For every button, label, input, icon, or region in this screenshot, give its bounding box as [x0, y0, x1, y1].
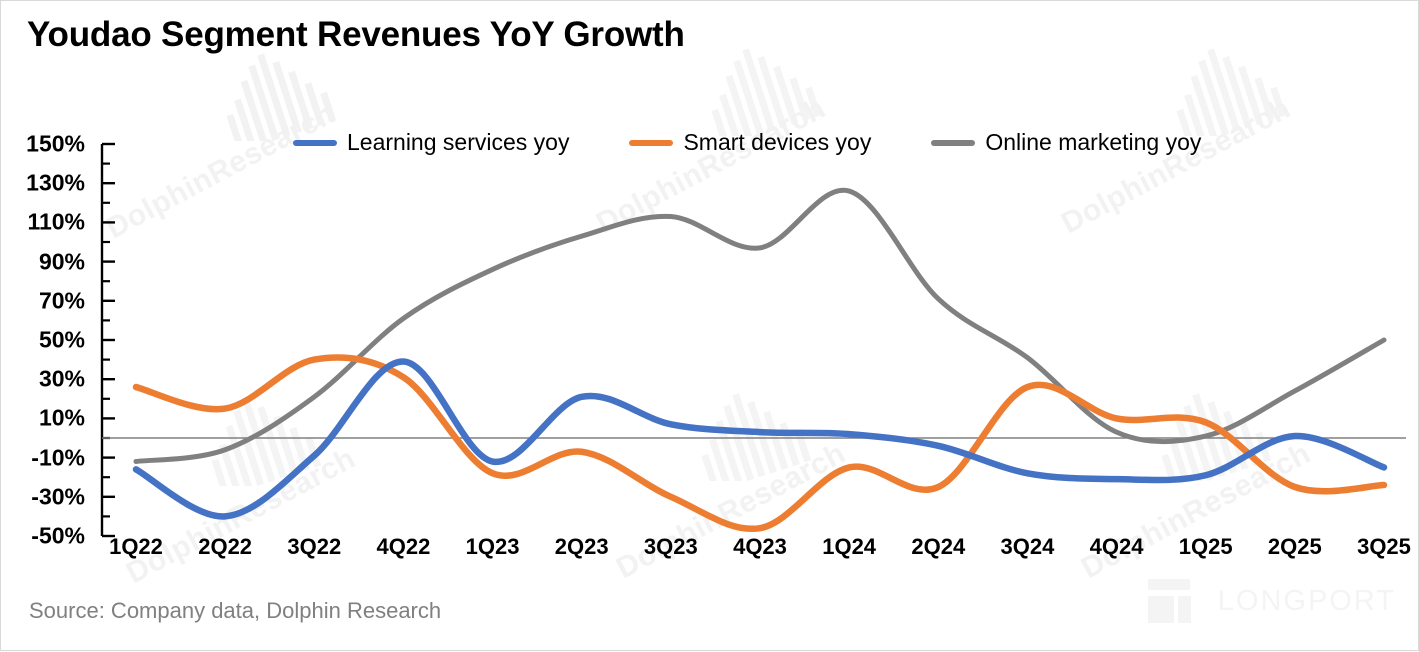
y-axis-tick-label: 130% [5, 170, 85, 197]
x-axis-tick-label: 4Q24 [1090, 534, 1144, 560]
chart-legend: Learning services yoy Smart devices yoy … [293, 129, 1201, 156]
x-axis-tick-label: 2Q25 [1268, 534, 1322, 560]
x-axis-tick-label: 1Q25 [1179, 534, 1233, 560]
watermark-bars [1166, 41, 1296, 136]
chart-figure: DolphinResearch DolphinResearch DolphinR… [0, 0, 1419, 651]
watermark-bars [216, 46, 346, 141]
x-axis-tick-label: 4Q22 [377, 534, 431, 560]
line-swatch-icon [629, 140, 673, 146]
longport-wordmark: LONGPORT [1218, 585, 1396, 618]
x-axis-tick-label: 2Q23 [555, 534, 609, 560]
y-axis-tick-label: 10% [5, 405, 85, 432]
watermark-text: DolphinResearch [121, 442, 361, 591]
watermark-text: DolphinResearch [591, 92, 831, 241]
y-axis-tick-label: 110% [5, 209, 85, 236]
watermark-text: DolphinResearch [1056, 92, 1296, 241]
x-axis-tick-label: 3Q25 [1357, 534, 1411, 560]
watermark-bars [201, 391, 331, 486]
legend-item-smart-devices[interactable]: Smart devices yoy [629, 129, 871, 156]
y-axis [102, 144, 115, 536]
x-axis-labels: 1Q222Q223Q224Q221Q232Q233Q234Q231Q242Q24… [1, 534, 1419, 568]
y-axis-tick-label: -10% [5, 444, 85, 471]
watermark-bars [1151, 386, 1281, 481]
line-swatch-icon [931, 140, 975, 146]
legend-item-online-marketing[interactable]: Online marketing yoy [931, 129, 1201, 156]
x-axis-tick-label: 1Q24 [822, 534, 876, 560]
x-axis-tick-label: 3Q24 [1001, 534, 1055, 560]
x-axis-tick-label: 1Q22 [109, 534, 163, 560]
series-lines [136, 190, 1384, 529]
x-axis-tick-label: 1Q23 [466, 534, 520, 560]
x-axis-tick-label: 4Q23 [733, 534, 787, 560]
x-axis-tick-label: 2Q24 [911, 534, 965, 560]
legend-label: Learning services yoy [347, 129, 569, 156]
y-axis-tick-label: 90% [5, 248, 85, 275]
y-axis-tick-label: 30% [5, 366, 85, 393]
y-axis-tick-label: 70% [5, 287, 85, 314]
source-note: Source: Company data, Dolphin Research [29, 598, 441, 624]
chart-title: Youdao Segment Revenues YoY Growth [27, 15, 685, 55]
x-axis-tick-label: 3Q22 [287, 534, 341, 560]
y-axis-tick-label: 150% [5, 131, 85, 158]
x-axis-tick-label: 3Q23 [644, 534, 698, 560]
legend-label: Online marketing yoy [985, 129, 1201, 156]
watermark-bars [691, 386, 821, 481]
legend-item-learning-services[interactable]: Learning services yoy [293, 129, 569, 156]
watermark-bars [701, 41, 831, 136]
longport-logo: LONGPORT [1148, 579, 1396, 623]
longport-mark-icon [1148, 579, 1206, 623]
y-axis-tick-label: -30% [5, 483, 85, 510]
x-axis-tick-label: 2Q22 [198, 534, 252, 560]
legend-label: Smart devices yoy [683, 129, 871, 156]
watermark-text: DolphinResearch [101, 97, 341, 246]
line-swatch-icon [293, 140, 337, 146]
y-axis-tick-label: 50% [5, 327, 85, 354]
